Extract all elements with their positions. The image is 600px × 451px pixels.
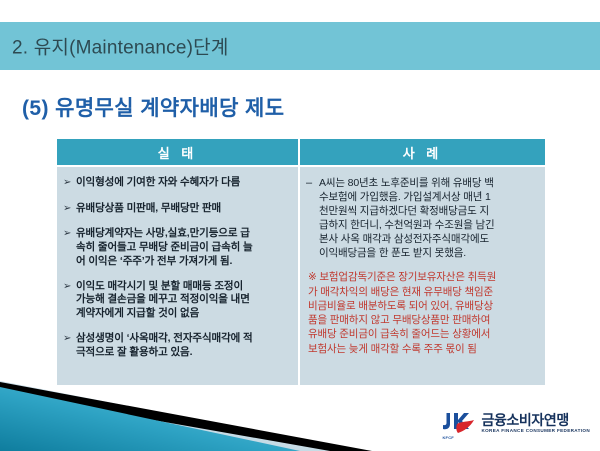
list-item: ➢ 유배당상품 미판매, 무배당만 판매 bbox=[63, 202, 291, 217]
logo-abbreviation: KFCF bbox=[442, 435, 453, 440]
list-item: ➢ 이익도 매각시기 및 분할 매매등 조정이 가능해 결손금을 메꾸고 적정이… bbox=[63, 280, 291, 322]
arrow-bullet-icon: ➢ bbox=[63, 227, 76, 242]
list-item: ➢ 삼성생명이 ‘사옥매각, 전자주식매각에 적 극적으로 잘 활용하고 있음. bbox=[63, 332, 291, 360]
table-cell-cases: – A씨는 80년초 노후준비를 위해 유배당 백 수보험에 가입했음. 가입설… bbox=[300, 167, 545, 385]
arrow-bullet-icon: ➢ bbox=[63, 202, 76, 217]
list-item-label: 이익도 매각시기 및 분할 매매등 조정이 가능해 결손금을 메꾸고 적정이익을… bbox=[76, 280, 291, 322]
case-entry: – A씨는 80년초 노후준비를 위해 유배당 백 수보험에 가입했음. 가입설… bbox=[306, 176, 538, 260]
deco-teal-wedge bbox=[0, 387, 300, 451]
kfcf-emblem-icon bbox=[441, 411, 475, 437]
section-header-text: 2. 유지(Maintenance)단계 bbox=[12, 33, 229, 60]
deco-pale-triangle bbox=[0, 381, 360, 451]
arrow-bullet-icon: ➢ bbox=[63, 176, 76, 191]
logo-name-english: KOREA FINANCE CONSUMER FEDERATION bbox=[481, 428, 590, 435]
arrow-bullet-icon: ➢ bbox=[63, 332, 76, 347]
list-item-label: 유배당상품 미판매, 무배당만 판매 bbox=[76, 202, 291, 216]
logo-text-block: 금융소비자연맹 KOREA FINANCE CONSUMER FEDERATIO… bbox=[481, 413, 590, 435]
table-body-row: ➢ 이익형성에 기여한 자와 수혜자가 다름 ➢ 유배당상품 미판매, 무배당만… bbox=[57, 165, 545, 385]
kfcf-logo-mark-icon: KFCF bbox=[441, 411, 475, 437]
arrow-bullet-icon: ➢ bbox=[63, 280, 76, 295]
list-item-label: 유배당계약자는 사망,실효,만기등으로 급 속히 줄어들고 무배당 준비금이 급… bbox=[76, 227, 291, 269]
list-item: ➢ 이익형성에 기여한 자와 수혜자가 다름 bbox=[63, 176, 291, 191]
section-header-band: 2. 유지(Maintenance)단계 bbox=[0, 22, 600, 70]
table-header-actual-state: 실 태 bbox=[57, 139, 300, 165]
table-cell-actual-state: ➢ 이익형성에 기여한 자와 수혜자가 다름 ➢ 유배당상품 미판매, 무배당만… bbox=[57, 167, 300, 385]
list-item: ➢ 유배당계약자는 사망,실효,만기등으로 급 속히 줄어들고 무배당 준비금이… bbox=[63, 227, 291, 269]
case-entry-text: A씨는 80년초 노후준비를 위해 유배당 백 수보험에 가입했음. 가입설계서… bbox=[319, 176, 538, 260]
list-item-label: 이익형성에 기여한 자와 수혜자가 다름 bbox=[76, 176, 291, 190]
table-header-cases: 사 례 bbox=[300, 139, 545, 165]
dash-bullet-icon: – bbox=[306, 176, 319, 191]
table-header-row: 실 태 사 례 bbox=[57, 139, 545, 165]
organization-logo: KFCF 금융소비자연맹 KOREA FINANCE CONSUMER FEDE… bbox=[441, 411, 590, 437]
regulatory-note-text: ※ 보험업감독기준은 장기보유자산은 취득원 가 매각차익의 배당은 현재 유무… bbox=[306, 270, 538, 356]
comparison-table: 실 태 사 례 ➢ 이익형성에 기여한 자와 수혜자가 다름 ➢ 유배당상품 미… bbox=[57, 139, 545, 385]
presentation-slide: 2. 유지(Maintenance)단계 (5) 유명무실 계약자배당 제도 실… bbox=[0, 0, 600, 451]
list-item-label: 삼성생명이 ‘사옥매각, 전자주식매각에 적 극적으로 잘 활용하고 있음. bbox=[76, 332, 291, 360]
deco-black-stripe bbox=[0, 382, 372, 451]
page-title: (5) 유명무실 계약자배당 제도 bbox=[22, 92, 285, 122]
logo-name-korean: 금융소비자연맹 bbox=[481, 413, 590, 428]
